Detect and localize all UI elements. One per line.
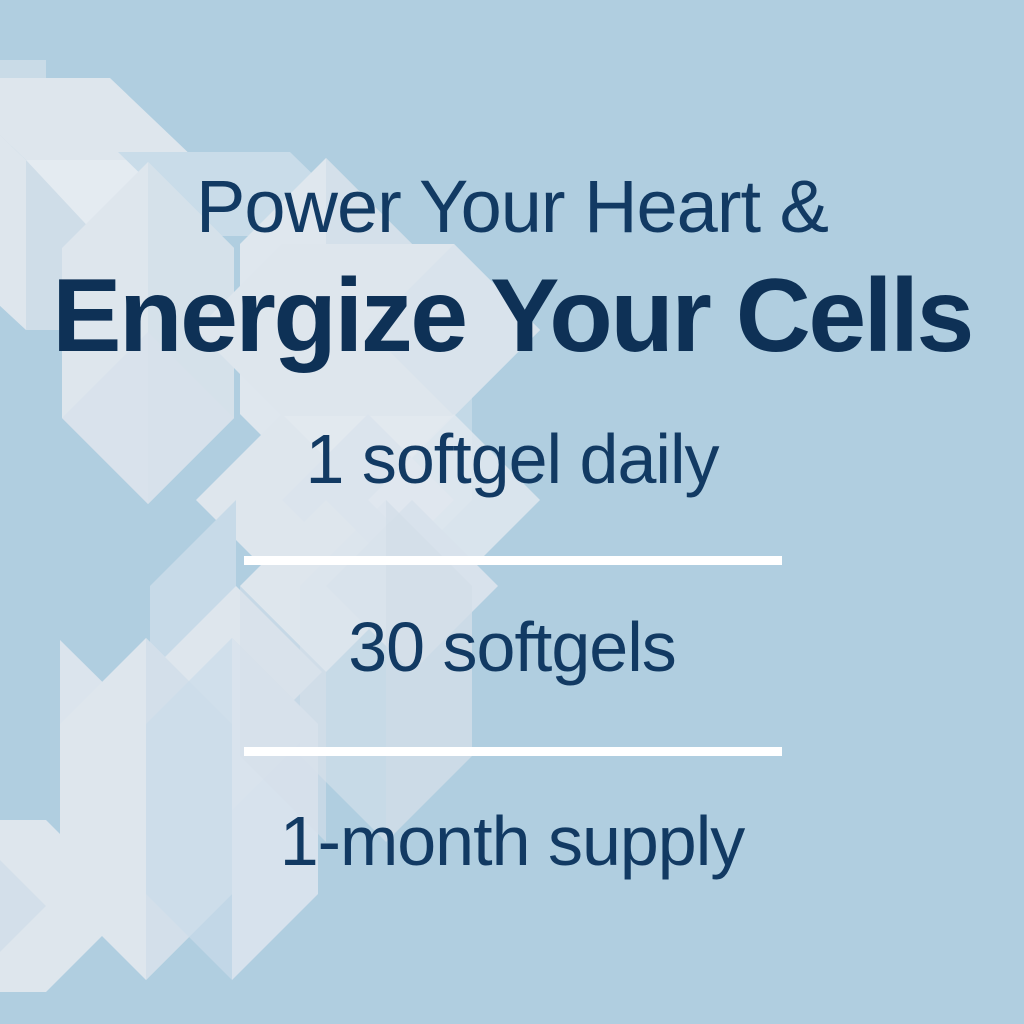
page-title: Energize Your Cells xyxy=(0,264,1024,368)
fact-count: 30 softgels xyxy=(0,612,1024,682)
divider-above-supply xyxy=(244,747,782,756)
hero-eyebrow: Power Your Heart & xyxy=(0,170,1024,244)
fact-supply: 1-month supply xyxy=(0,806,1024,876)
divider-above-quantity xyxy=(244,556,782,565)
callout-content: Power Your Heart & Energize Your Cells 1… xyxy=(0,0,1024,1024)
product-callout-card: Power Your Heart & Energize Your Cells 1… xyxy=(0,0,1024,1024)
fact-dosage: 1 softgel daily xyxy=(0,424,1024,494)
